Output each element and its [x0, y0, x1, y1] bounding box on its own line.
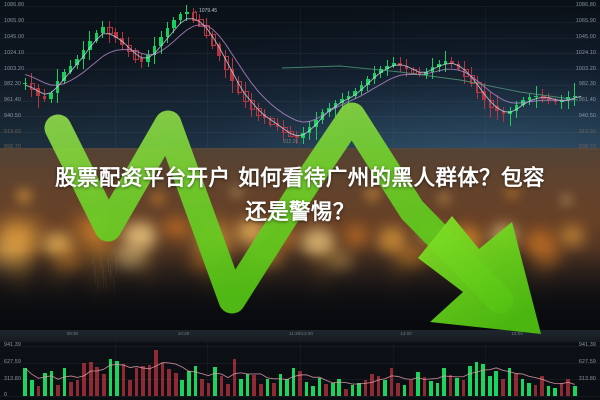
stock-headline-banner: 1086.801086.801065.901065.901045.001045.… [0, 0, 600, 400]
headline-line-1: 股票配资平台开户 如何看待广州的黑人群体？包容 [55, 166, 545, 191]
page-title: 股票配资平台开户 如何看待广州的黑人群体？包容 还是警惕？ [0, 162, 600, 230]
headline-line-2: 还是警惕？ [0, 196, 600, 230]
